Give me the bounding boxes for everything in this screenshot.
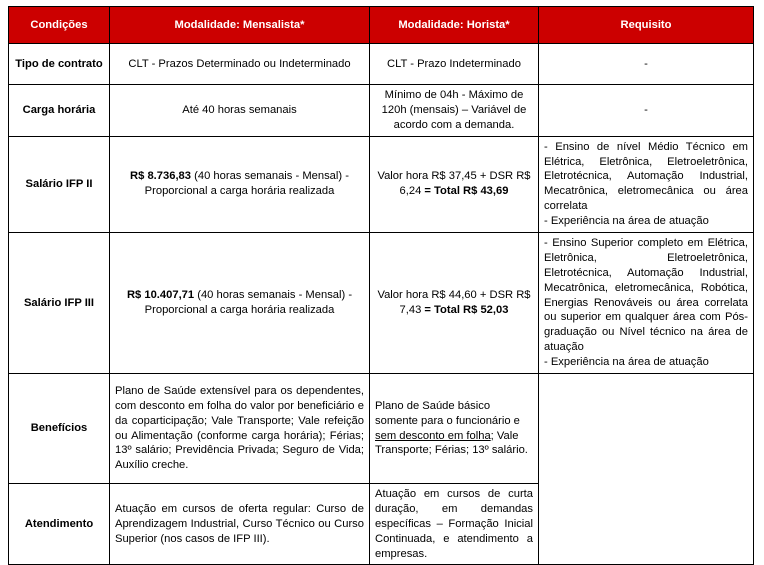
- cell-requisito-salario-ifp-iii: - Ensino Superior completo em Elétrica, …: [539, 233, 754, 374]
- column-header-mensalista: Modalidade: Mensalista*: [110, 7, 370, 44]
- beneficios-horista-prefix: Plano de Saúde básico somente para o fun…: [375, 400, 520, 427]
- row-label-beneficios: Benefícios: [9, 374, 110, 484]
- row-label-tipo-de-contrato: Tipo de contrato: [9, 44, 110, 85]
- salary-amount-ifp-ii: R$ 8.736,83: [130, 170, 191, 182]
- column-header-requisito: Requisito: [539, 7, 754, 44]
- cell-horista-salario-ifp-ii: Valor hora R$ 37,45 + DSR R$ 6,24 = Tota…: [370, 136, 539, 232]
- beneficios-horista-emphasis: sem desconto em folha: [375, 430, 491, 442]
- cell-mensalista-atendimento: Atuação em cursos de oferta regular: Cur…: [110, 484, 370, 565]
- cell-horista-atendimento: Atuação em cursos de curta duração, em d…: [370, 484, 539, 565]
- cell-mensalista-beneficios: Plano de Saúde extensível para os depend…: [110, 374, 370, 484]
- cell-mensalista-salario-ifp-ii: R$ 8.736,83 (40 horas semanais - Mensal)…: [110, 136, 370, 232]
- table-row: Benefícios Plano de Saúde extensível par…: [9, 374, 754, 484]
- row-label-carga-horaria: Carga horária: [9, 85, 110, 137]
- cell-requisito-empty: [539, 374, 754, 565]
- cell-horista-beneficios: Plano de Saúde básico somente para o fun…: [370, 374, 539, 484]
- conditions-table: Condições Modalidade: Mensalista* Modali…: [8, 6, 754, 565]
- hourly-total-ifp-ii: = Total R$ 43,69: [424, 185, 508, 197]
- cell-requisito-salario-ifp-ii: - Ensino de nível Médio Técnico em Elétr…: [539, 136, 754, 232]
- requisito-education-ifp-iii: - Ensino Superior completo em Elétrica, …: [544, 237, 748, 353]
- hourly-total-ifp-iii: = Total R$ 52,03: [424, 304, 508, 316]
- table-row: Salário IFP II R$ 8.736,83 (40 horas sem…: [9, 136, 754, 232]
- cell-horista-tipo-de-contrato: CLT - Prazo Indeterminado: [370, 44, 539, 85]
- cell-mensalista-salario-ifp-iii: R$ 10.407,71 (40 horas semanais - Mensal…: [110, 233, 370, 374]
- row-label-salario-ifp-ii: Salário IFP II: [9, 136, 110, 232]
- column-header-horista: Modalidade: Horista*: [370, 7, 539, 44]
- header-row: Condições Modalidade: Mensalista* Modali…: [9, 7, 754, 44]
- cell-horista-salario-ifp-iii: Valor hora R$ 44,60 + DSR R$ 7,43 = Tota…: [370, 233, 539, 374]
- column-header-condicoes: Condições: [9, 7, 110, 44]
- table-row: Salário IFP III R$ 10.407,71 (40 horas s…: [9, 233, 754, 374]
- cell-horista-carga-horaria: Mínimo de 04h - Máximo de 120h (mensais)…: [370, 85, 539, 137]
- requisito-education-ifp-ii: - Ensino de nível Médio Técnico em Elétr…: [544, 141, 748, 213]
- row-label-salario-ifp-iii: Salário IFP III: [9, 233, 110, 374]
- cell-requisito-carga-horaria: -: [539, 85, 754, 137]
- salary-amount-ifp-iii: R$ 10.407,71: [127, 289, 194, 301]
- cell-requisito-tipo-de-contrato: -: [539, 44, 754, 85]
- table-screenshot-root: Condições Modalidade: Mensalista* Modali…: [0, 6, 764, 556]
- table-row: Carga horária Até 40 horas semanais Míni…: [9, 85, 754, 137]
- row-label-atendimento: Atendimento: [9, 484, 110, 565]
- table-header: Condições Modalidade: Mensalista* Modali…: [9, 7, 754, 44]
- table-row: Tipo de contrato CLT - Prazos Determinad…: [9, 44, 754, 85]
- cell-mensalista-carga-horaria: Até 40 horas semanais: [110, 85, 370, 137]
- requisito-experience-ifp-iii: - Experiência na área de atuação: [544, 356, 709, 368]
- cell-mensalista-tipo-de-contrato: CLT - Prazos Determinado ou Indeterminad…: [110, 44, 370, 85]
- requisito-experience-ifp-ii: - Experiência na área de atuação: [544, 215, 709, 227]
- table-body: Tipo de contrato CLT - Prazos Determinad…: [9, 44, 754, 565]
